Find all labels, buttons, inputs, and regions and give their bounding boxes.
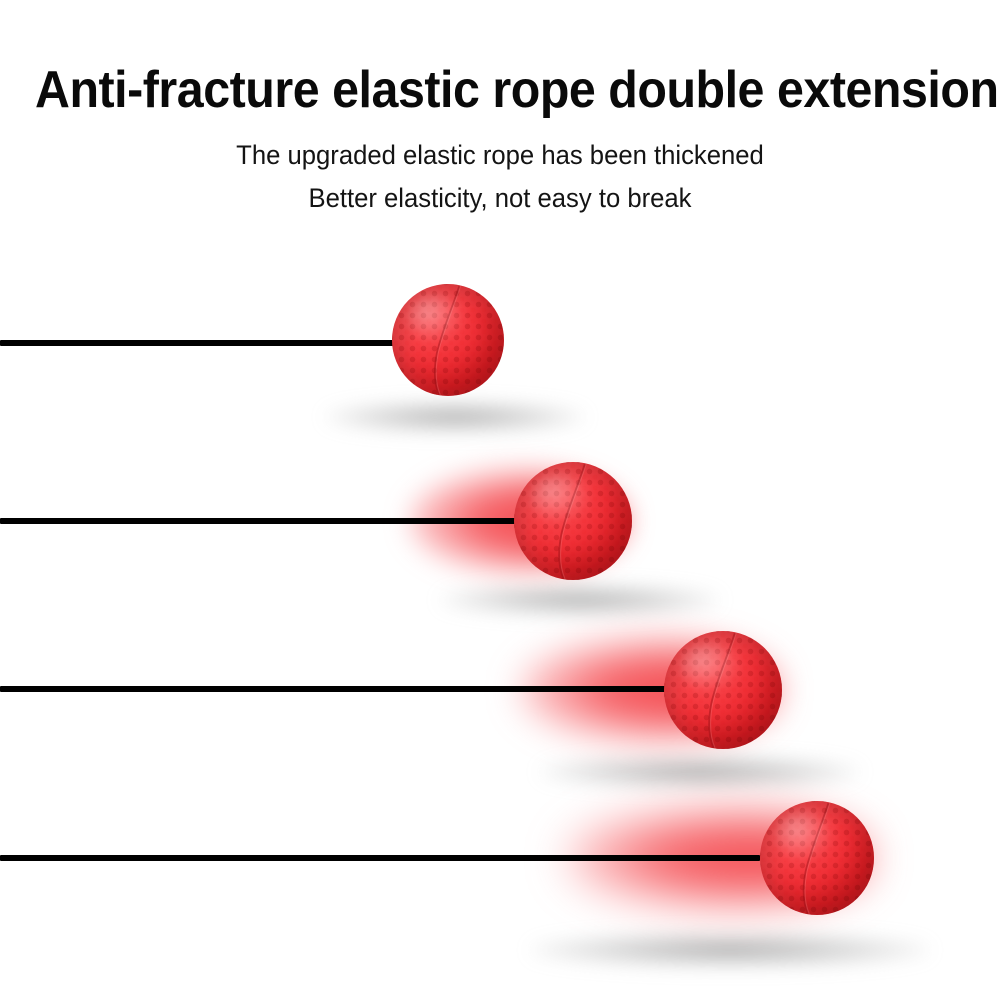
ball-drop-shadow: [440, 585, 720, 615]
ball-body: [760, 801, 874, 915]
rope-fade-tip: [690, 855, 760, 861]
elastic-rope-line: [0, 855, 760, 861]
subtitle-line-2: Better elasticity, not easy to break: [25, 183, 975, 213]
ball-body: [392, 284, 504, 396]
rope-fade-tip: [452, 518, 522, 524]
elastic-rope-line: [0, 686, 668, 692]
ball-drop-shadow: [540, 756, 860, 788]
reflex-ball: [392, 284, 504, 396]
page-title: Anti-fracture elastic rope double extens…: [35, 62, 965, 118]
ball-drop-shadow: [530, 933, 930, 967]
ball-highlight: [531, 474, 590, 524]
ball-drop-shadow: [325, 402, 585, 432]
ball-highlight: [408, 295, 464, 342]
reflex-ball: [760, 801, 874, 915]
elastic-rope-line: [0, 518, 522, 524]
product-feature-image: Anti-fracture elastic rope double extens…: [0, 0, 1000, 1000]
rope-fade-tip: [598, 686, 668, 692]
ball-highlight: [776, 812, 833, 860]
reflex-ball: [514, 462, 632, 580]
ball-body: [664, 631, 782, 749]
subtitle-line-1: The upgraded elastic rope has been thick…: [25, 140, 975, 170]
ball-body: [514, 462, 632, 580]
ball-highlight: [681, 643, 740, 693]
elastic-rope-line: [0, 340, 396, 346]
reflex-ball: [664, 631, 782, 749]
